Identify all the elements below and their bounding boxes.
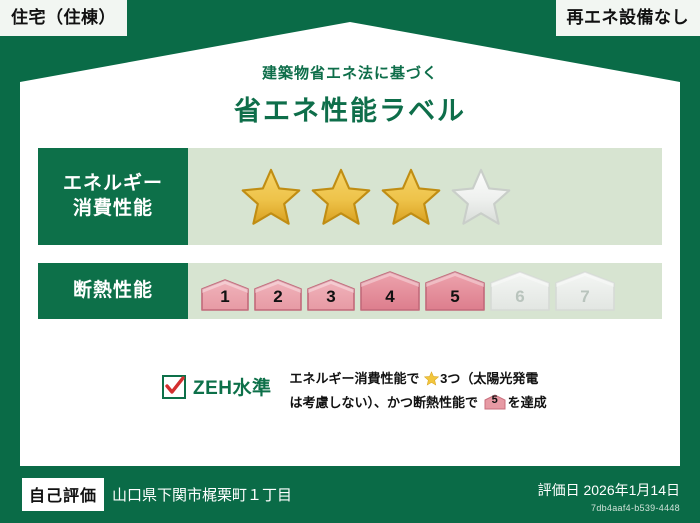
insulation-badge-6: 6 (489, 270, 551, 312)
property-address: 山口県下関市梶栗町１丁目 (112, 484, 292, 505)
insulation-level-scale: 1234567 (200, 270, 616, 312)
insulation-badge-2: 2 (253, 278, 303, 312)
evaluation-id: 7db4aaf4-b539-4448 (538, 503, 680, 513)
zeh-standard-block: ZEH水準 エネルギー消費性能で 3つ（太陽光発電 は考慮しない）、かつ断熱性能… (38, 368, 662, 413)
zeh-checkbox (162, 375, 186, 399)
zeh-desc-text-2a: は考慮しない）、かつ断熱性能で (290, 395, 479, 410)
insulation-label-text: 断熱性能 (73, 279, 153, 303)
insulation-performance-label: 断熱性能 (38, 263, 188, 319)
energy-performance-label: 住宅（住棟） 再エネ設備なし 建築物省エネ法に基づく 省エネ性能ラベル エネルギ… (0, 0, 700, 523)
energy-consumption-row: エネルギー 消費性能 (38, 148, 662, 245)
zeh-label: ZEH水準 (193, 373, 272, 400)
zeh-mark: ZEH水準 (38, 368, 272, 400)
evaluation-date: 評価日 2026年1月14日 (538, 480, 680, 500)
page-title: 省エネ性能ラベル (0, 89, 700, 128)
building-type-tag: 住宅（住棟） (0, 0, 127, 36)
insulation-performance-row: 断熱性能 1234567 (38, 263, 662, 319)
insulation-badge-number: 2 (253, 287, 303, 307)
footer-left: 自己評価 山口県下関市梶栗町１丁目 (22, 478, 292, 511)
energy-consumption-label: エネルギー 消費性能 (38, 148, 188, 245)
insulation-badge-number: 1 (200, 287, 250, 307)
zeh-description-line-1: エネルギー消費性能で 3つ（太陽光発電 (290, 368, 547, 392)
insulation-badge-7: 7 (554, 270, 616, 312)
zeh-description: エネルギー消費性能で 3つ（太陽光発電 は考慮しない）、かつ断熱性能で 5 を達… (290, 368, 547, 413)
check-icon (163, 374, 187, 398)
insulation-badge-1: 1 (200, 278, 250, 312)
inline-badge-number: 5 (484, 392, 506, 410)
insulation-badge-number: 6 (489, 287, 551, 307)
insulation-badge-number: 7 (554, 287, 616, 307)
insulation-performance-value: 1234567 (188, 263, 662, 319)
title-subtitle: 建築物省エネ法に基づく (0, 62, 700, 83)
insulation-badge-4: 4 (359, 270, 421, 312)
energy-label-line-1: エネルギー (63, 172, 163, 196)
inline-insulation-badge: 5 (484, 394, 506, 410)
star-filled-icon (310, 166, 372, 228)
insulation-badge-3: 3 (306, 278, 356, 312)
zeh-desc-text-1a: エネルギー消費性能で (290, 371, 420, 386)
star-filled-icon (240, 166, 302, 228)
inline-star-icon (424, 371, 439, 392)
insulation-badge-number: 5 (424, 287, 486, 307)
footer-right: 評価日 2026年1月14日 7db4aaf4-b539-4448 (538, 480, 680, 513)
zeh-desc-text-1b: 3つ（太陽光発電 (440, 371, 538, 386)
zeh-desc-text-2b: を達成 (508, 395, 547, 410)
insulation-badge-number: 3 (306, 287, 356, 307)
energy-consumption-value (188, 148, 662, 245)
insulation-badge-5: 5 (424, 270, 486, 312)
insulation-badge-number: 4 (359, 287, 421, 307)
star-rating (240, 166, 512, 228)
renewable-equipment-tag: 再エネ設備なし (556, 0, 700, 36)
title-block: 建築物省エネ法に基づく 省エネ性能ラベル (0, 62, 700, 128)
energy-label-line-2: 消費性能 (73, 197, 153, 221)
star-empty-icon (450, 166, 512, 228)
star-filled-icon (380, 166, 442, 228)
self-evaluation-badge: 自己評価 (22, 478, 104, 511)
zeh-description-line-2: は考慮しない）、かつ断熱性能で 5 を達成 (290, 392, 547, 413)
